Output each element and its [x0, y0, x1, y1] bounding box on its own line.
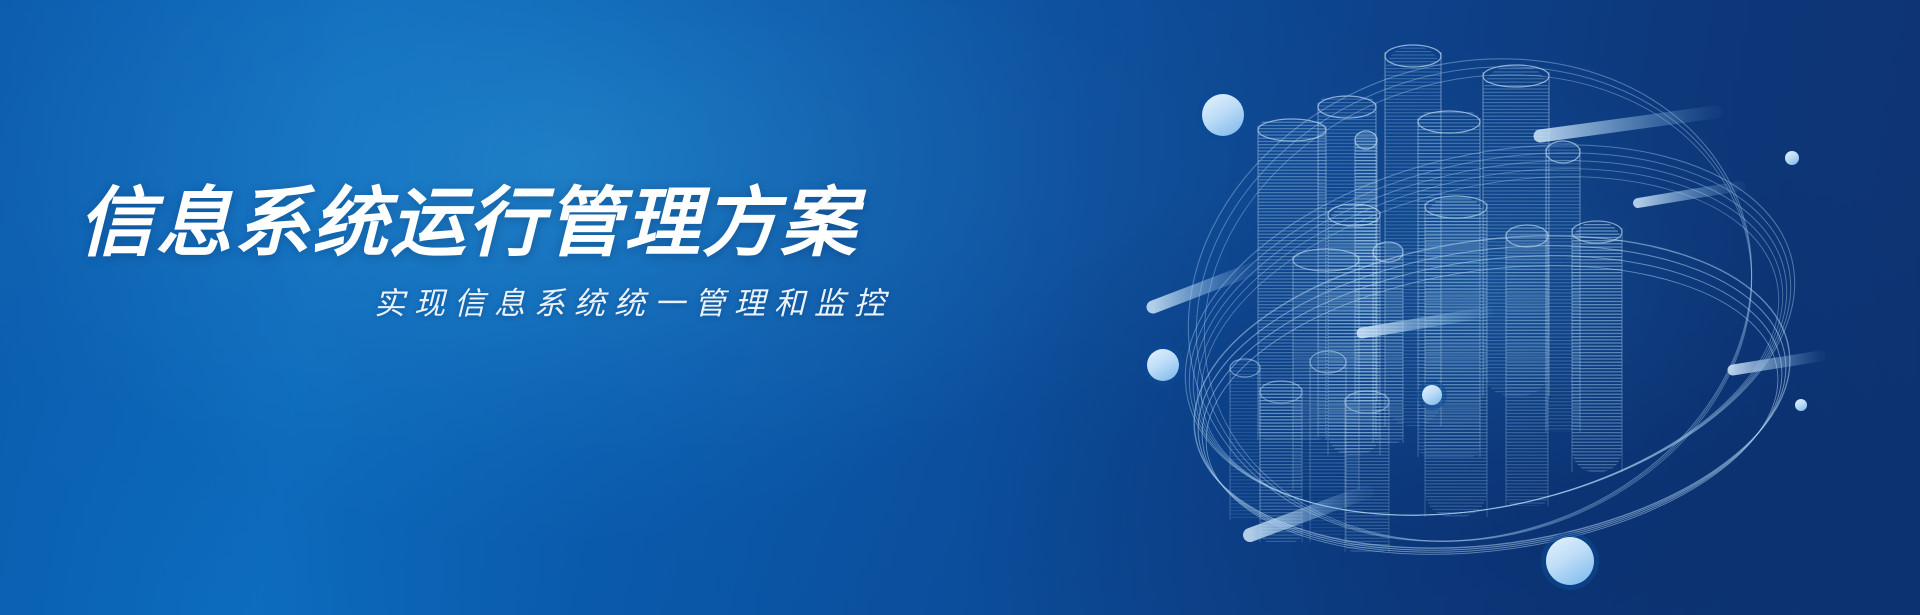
city-svg [1140, 0, 1860, 615]
floating-dot [1541, 532, 1599, 590]
banner-root: 信息系统运行管理方案 实现信息系统统一管理和监控 [0, 0, 1920, 615]
floating-dot [1197, 89, 1249, 141]
floating-dot [1785, 151, 1799, 165]
tower [1572, 221, 1622, 472]
wireframe-city-illustration [1140, 0, 1860, 615]
floating-dot [1142, 344, 1184, 386]
headline-block: 信息系统运行管理方案 实现信息系统统一管理和监控 [78, 186, 938, 319]
floating-dot [1417, 380, 1447, 410]
floating-dot [1795, 399, 1807, 411]
page-subtitle: 实现信息系统统一管理和监控 [78, 288, 938, 319]
page-title: 信息系统运行管理方案 [78, 186, 938, 262]
